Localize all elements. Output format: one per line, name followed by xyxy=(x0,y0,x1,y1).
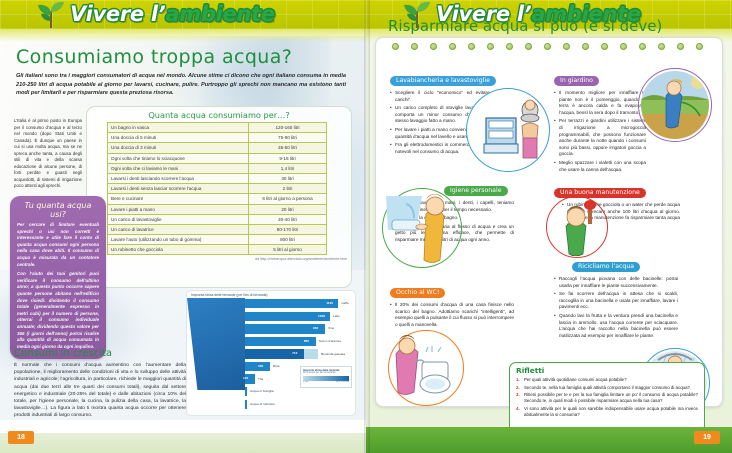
list-item: Vi sono attività per le quali non sarebb… xyxy=(516,406,698,418)
table-cell-activity: Ogni volta che ci laviamo le mani xyxy=(108,163,249,173)
notecard-ring xyxy=(601,43,608,50)
chart-title: Impronta idrica delle bevande (per litro… xyxy=(187,291,355,298)
table-cell-amount: 5 litri al giorno xyxy=(249,245,327,255)
section-bullets-wc: Il 20% dei consumi d’acqua di una casa f… xyxy=(390,302,514,330)
purple-box-paragraph-2: Con l’aiuto dei tuoi genitori puoi verif… xyxy=(17,271,99,350)
chart-bar xyxy=(245,298,338,309)
chart-bar-label: Bevanda gassata xyxy=(321,352,345,356)
table-cell-activity: Lavare i piatti a mano xyxy=(108,204,249,214)
illustration-toilet xyxy=(392,332,462,404)
illustration-plumber xyxy=(550,200,606,256)
table-cell-activity: Ogni volta che tiriamo lo sciacquone xyxy=(108,153,249,163)
chart-bar xyxy=(245,386,247,397)
purple-box-paragraph-1: Per cercare di limitare eventuali sprech… xyxy=(17,222,99,268)
right-footer-band xyxy=(366,427,732,453)
rifletti-title: Rifletti xyxy=(516,366,698,375)
notecard-ring xyxy=(639,43,646,50)
purple-box-title: Tu quanta acqua usi? xyxy=(17,201,99,219)
table-row: Ogni volta che tiriamo lo sciacquone9-16… xyxy=(108,153,327,163)
notecard-ring xyxy=(487,43,494,50)
table-cell-amount: 1,4 litri xyxy=(249,163,327,173)
left-intro-paragraph: Gli italiani sono tra i maggiori consuma… xyxy=(16,72,346,98)
chart-bar-value: 1120 xyxy=(326,301,333,305)
chart-bars: 1120Caffè1020Latte960Vino850Succo d’aran… xyxy=(187,298,355,410)
table-cell-amount: 75-90 litri xyxy=(249,133,327,143)
chart-bar-row: 960Vino xyxy=(187,323,355,334)
notecard-ring xyxy=(506,43,513,50)
chart-bar-value: 1020 xyxy=(318,314,325,318)
table-row: Lavare l’auto (utilizzando un tubo di go… xyxy=(108,235,327,245)
table-row: Un carico di lavatrice80-170 litri xyxy=(108,224,327,234)
section-bullets-riciclo: Raccogli l’acqua piovana con delle bacin… xyxy=(554,276,678,341)
list-item: Per quali attività quotidiane consumi ac… xyxy=(516,377,698,383)
notecard-ring xyxy=(544,43,551,50)
chart-bar-value: 300 xyxy=(258,364,263,368)
chart-legend: Impronta idrica delle bevande litri di a… xyxy=(300,366,352,388)
sprout-icon xyxy=(34,1,68,29)
chart-bar-row: 710Bevanda gassata xyxy=(187,348,355,359)
list-item: Il 20% dei consumi d’acqua di una casa f… xyxy=(390,302,514,328)
illustration-garden xyxy=(640,70,710,140)
chart-bar-label: Thè xyxy=(258,377,263,381)
water-usage-table-title: Quanta acqua consumiamo per…? xyxy=(87,107,351,122)
table-cell-activity: Una doccia di 3 minuti xyxy=(108,143,249,153)
table-cell-activity: Lavarsi i denti lasciando scorrere l’acq… xyxy=(108,173,249,183)
consumi-in-crescita-title: Consumi in crescita xyxy=(14,348,112,359)
list-item: Raccogli l’acqua piovana con delle bacin… xyxy=(554,276,678,289)
consumi-in-crescita-text: È normale che i consumi d’acqua aumentin… xyxy=(14,362,186,420)
chart-bar xyxy=(245,399,247,410)
notecard-ring xyxy=(468,43,475,50)
table-row: Lavare i piatti a mano20 litri xyxy=(108,204,327,214)
list-item: Per terrazzi e giardini utilizzare i sis… xyxy=(554,118,646,158)
book-spread: Vivere l’ambiente Consumiamo troppa acqu… xyxy=(0,0,732,453)
table-row: Un rubinetto che gocciola5 litri al gior… xyxy=(108,245,327,255)
section-header-wc: Occhio al WC! xyxy=(390,288,445,298)
chart-bar-value: 9 xyxy=(235,389,237,393)
chart-bar-value: 120 xyxy=(243,376,248,380)
table-source-note: da http://cicloacqua.altervista.org/ambi… xyxy=(87,255,351,264)
chart-bar-value: 1 xyxy=(235,402,237,406)
left-headline: Consumiamo troppa acqua? xyxy=(16,46,292,68)
table-row: Lavarsi i denti lasciando scorrere l’acq… xyxy=(108,173,327,183)
table-cell-amount: 800 litri xyxy=(249,235,327,245)
chart-bar-row: 1120Caffè xyxy=(187,298,355,309)
water-usage-table: Un bagno in vasca120-160 litriUna doccia… xyxy=(107,122,327,255)
table-row: Ogni volta che ci laviamo le mani1,4 lit… xyxy=(108,163,327,173)
masthead-title-accent: ambiente xyxy=(165,2,274,26)
notecard-ring xyxy=(392,43,399,50)
chart-bar-value: 850 xyxy=(304,339,309,343)
table-row: Una doccia di 3 minuti35-50 litri xyxy=(108,143,327,153)
right-page-title: Risparmiare acqua si può (e si deve) xyxy=(388,17,662,35)
notecard-ring xyxy=(525,43,532,50)
chart-bar-row: 850Succo d’arancia xyxy=(187,336,355,347)
chart-plot-area: 1120Caffè1020Latte960Vino850Succo d’aran… xyxy=(187,298,355,390)
table-cell-activity: Una doccia di 5 minuti xyxy=(108,133,249,143)
table-row: Lavarsi i denti senza lasciar scorrere l… xyxy=(108,184,327,194)
chart-legend-axis: 1 litro oltre 1000 litri xyxy=(303,381,349,383)
chart-legend-max: oltre 1000 litri xyxy=(336,381,349,383)
chart-legend-subtitle: litri di acqua per litro di bevanda xyxy=(303,372,349,374)
left-page: Vivere l’ambiente Consumiamo troppa acqu… xyxy=(0,0,366,453)
chart-bar-value: 710 xyxy=(292,351,297,355)
list-item: Ritieni possibile per te e per la tua fa… xyxy=(516,392,698,404)
right-page: Vivere l’ambiente Risparmiare acqua si p… xyxy=(366,0,732,453)
list-item: Meglio spazzare i vialetti con una scopa… xyxy=(554,160,646,173)
notecard-ring xyxy=(563,43,570,50)
chart-bar-label: Succo d’arancia xyxy=(319,339,341,343)
chart-bar-row: 1020Latte xyxy=(187,311,355,322)
quanta-acqua-usi-box: Tu quanta acqua usi? Per cercare di limi… xyxy=(10,196,106,359)
chart-bar-label: Caffè xyxy=(341,301,348,305)
section-header-giardino: In giardino xyxy=(554,76,599,86)
list-item: Se fai scorrere dell’acqua in attesa che… xyxy=(554,291,678,311)
list-item: Quando lavi la frutta e la verdura prend… xyxy=(554,313,678,339)
table-cell-activity: Un rubinetto che gocciola xyxy=(108,245,249,255)
chart-bar-label: Vino xyxy=(328,326,334,330)
book-gutter xyxy=(364,0,370,453)
table-cell-activity: Un carico di lavatrice xyxy=(108,224,249,234)
notecard-ring xyxy=(449,43,456,50)
left-side-text: L’Italia è al primo posto in Europa per … xyxy=(14,118,82,190)
illustration-handwashing xyxy=(386,190,460,266)
notecard-ring xyxy=(582,43,589,50)
table-cell-activity: Un bagno in vasca xyxy=(108,123,249,133)
notecard-ring xyxy=(658,43,665,50)
list-item: Secondo te, nella tua famiglia quali att… xyxy=(516,385,698,391)
rifletti-box: Rifletti Per quali attività quotidiane c… xyxy=(509,362,705,436)
table-cell-activity: Bere e cucinare xyxy=(108,194,249,204)
notecard-ring xyxy=(411,43,418,50)
section-header-lavabiancheria: Lavabiancheria e lavastoviglie xyxy=(390,76,496,86)
chart-bar-label: Birra xyxy=(273,364,280,368)
notecard-ring xyxy=(430,43,437,50)
chart-bar-extension xyxy=(304,348,318,359)
masthead-title-plain: Vivere l xyxy=(70,2,158,26)
notecard-ring xyxy=(696,43,703,50)
table-cell-amount: 2 litri xyxy=(249,184,327,194)
table-cell-amount: 20 litri xyxy=(249,204,327,214)
table-cell-amount: 120-160 litri xyxy=(249,123,327,133)
chart-bar-label: Acqua di rubinetto xyxy=(250,402,275,406)
table-cell-activity: Lavare l’auto (utilizzando un tubo di go… xyxy=(108,235,249,245)
table-row: Un carico di lavastoviglie30-40 litri xyxy=(108,214,327,224)
rifletti-list: Per quali attività quotidiane consumi ac… xyxy=(516,377,698,418)
chart-bar-label: Latte xyxy=(333,314,340,318)
section-header-riciclo: Ricicliamo l’acqua xyxy=(572,262,640,272)
table-row: Bere e cucinare6 litri al giorno a perso… xyxy=(108,194,327,204)
table-cell-activity: Un carico di lavastoviglie xyxy=(108,214,249,224)
notecard-rings xyxy=(392,43,710,52)
left-footer-band xyxy=(0,433,366,453)
table-cell-amount: 35-50 litri xyxy=(249,143,327,153)
water-footprint-chart: Impronta idrica delle bevande (per litro… xyxy=(186,290,356,416)
table-cell-amount: 80-170 litri xyxy=(249,224,327,234)
water-usage-card: Quanta acqua consumiamo per…? Un bagno i… xyxy=(86,106,352,288)
table-cell-amount: 30-40 litri xyxy=(249,214,327,224)
illustration-dishwasher xyxy=(482,96,548,164)
list-item: Il momento migliore per innaffiare le pi… xyxy=(554,90,646,116)
page-number-left: 18 xyxy=(8,431,34,444)
masthead-title: Vivere l’ambiente xyxy=(70,2,275,26)
table-row: Un bagno in vasca120-160 litri xyxy=(108,123,327,133)
table-cell-amount: 30 litri xyxy=(249,173,327,183)
table-row: Una doccia di 5 minuti75-90 litri xyxy=(108,133,327,143)
table-cell-amount: 9-16 litri xyxy=(249,153,327,163)
chart-bar-row: 1Acqua di rubinetto xyxy=(187,399,355,410)
page-number-right: 19 xyxy=(694,431,720,444)
chart-bar-label: Acqua in bottiglia xyxy=(250,389,274,393)
table-cell-activity: Lavarsi i denti senza lasciar scorrere l… xyxy=(108,184,249,194)
notecard-ring xyxy=(620,43,627,50)
chart-legend-min: 1 litro xyxy=(303,381,308,383)
notecard-ring xyxy=(677,43,684,50)
masthead-fade-left xyxy=(0,29,366,42)
section-bullets-giardino: Il momento migliore per innaffiare le pi… xyxy=(554,90,646,175)
chart-bar-value: 960 xyxy=(313,326,318,330)
table-cell-amount: 6 litri al giorno a persona xyxy=(249,194,327,204)
